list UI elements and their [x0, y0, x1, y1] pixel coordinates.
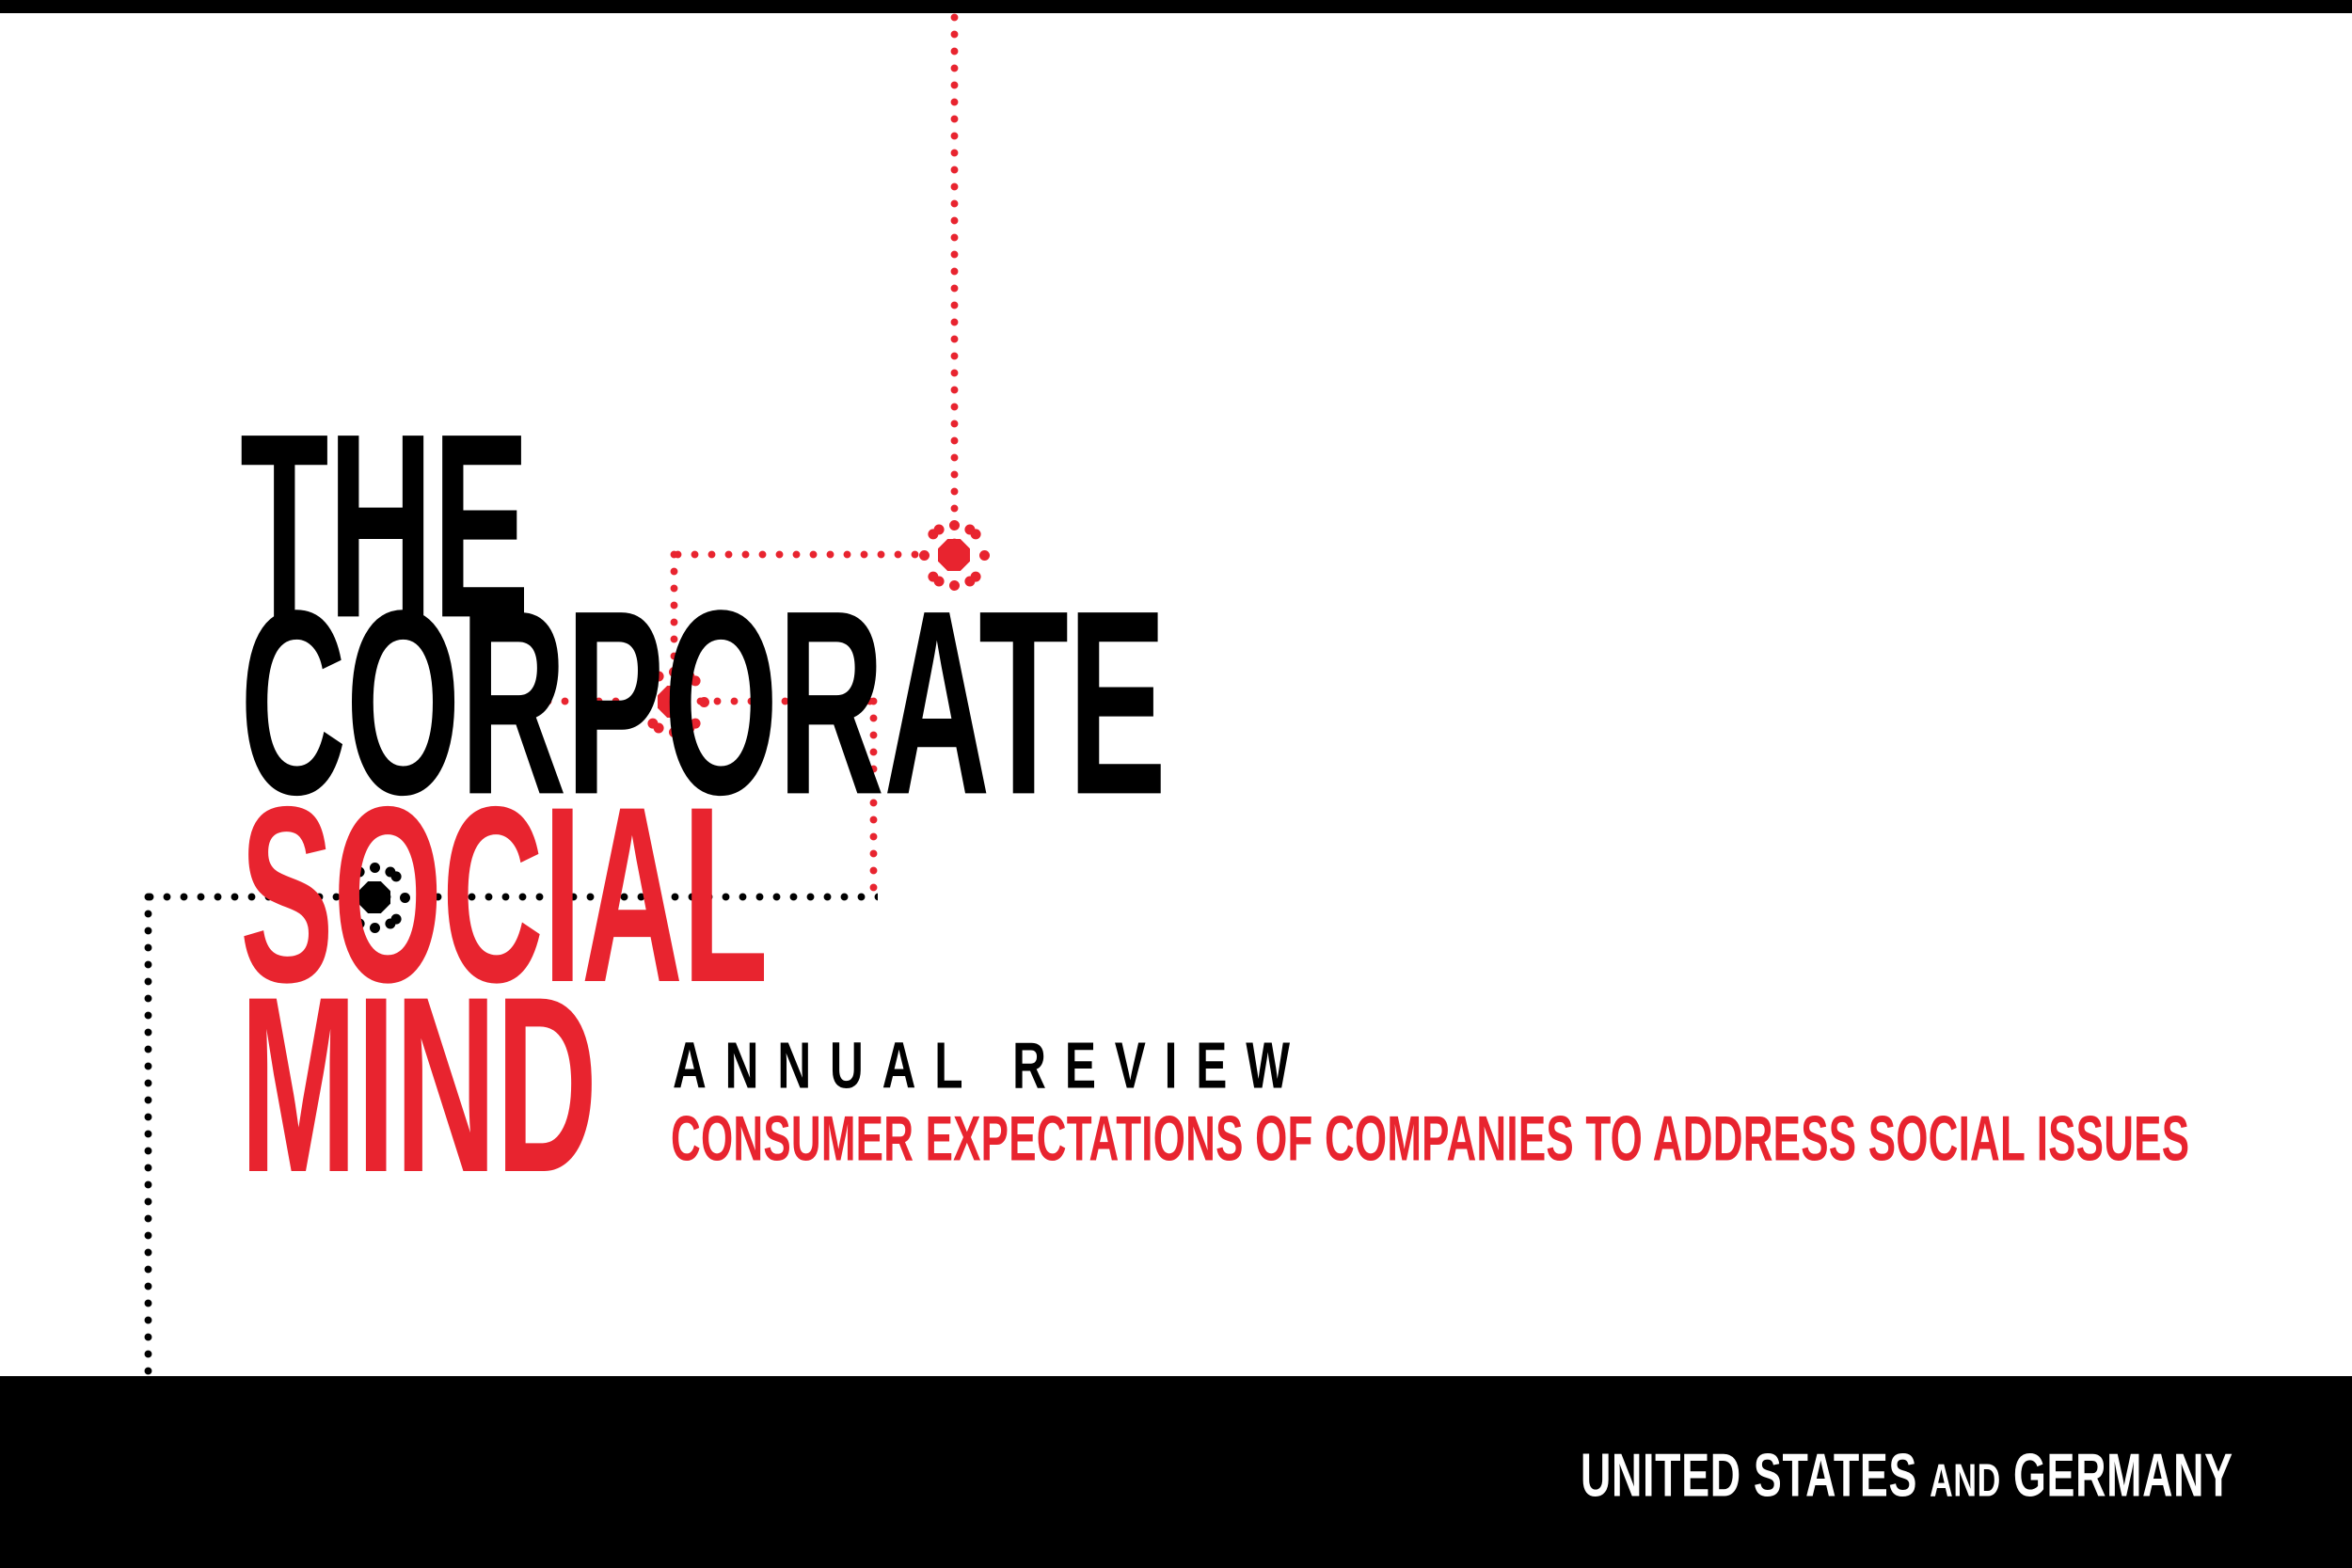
subtitle-descriptor: CONSUMER EXPECTATIONS OF COMPANIES TO AD…: [671, 1102, 2189, 1176]
footer-market-secondary: GERMANY: [2013, 1440, 2233, 1509]
title-line-mind: MIND: [240, 988, 596, 1183]
subtitle-kicker: ANNUAL REVIEW: [673, 1029, 1309, 1104]
footer-market-primary: UNITED STATES: [1581, 1440, 1917, 1509]
cover-page: THE CORPORATE SOCIAL MIND ANNUAL REVIEW …: [0, 0, 2352, 1568]
top-rule-bar: [0, 0, 2352, 13]
connector-red-vertical-top: [950, 13, 959, 540]
footer-markets: UNITED STATES AND GERMANY: [1581, 1439, 2233, 1510]
footer-conjunction: AND: [1930, 1454, 2001, 1507]
halo-dot: [933, 524, 944, 534]
halo-dot: [964, 524, 975, 534]
halo-dot: [949, 520, 960, 531]
connector-black-vertical: [144, 893, 152, 1378]
